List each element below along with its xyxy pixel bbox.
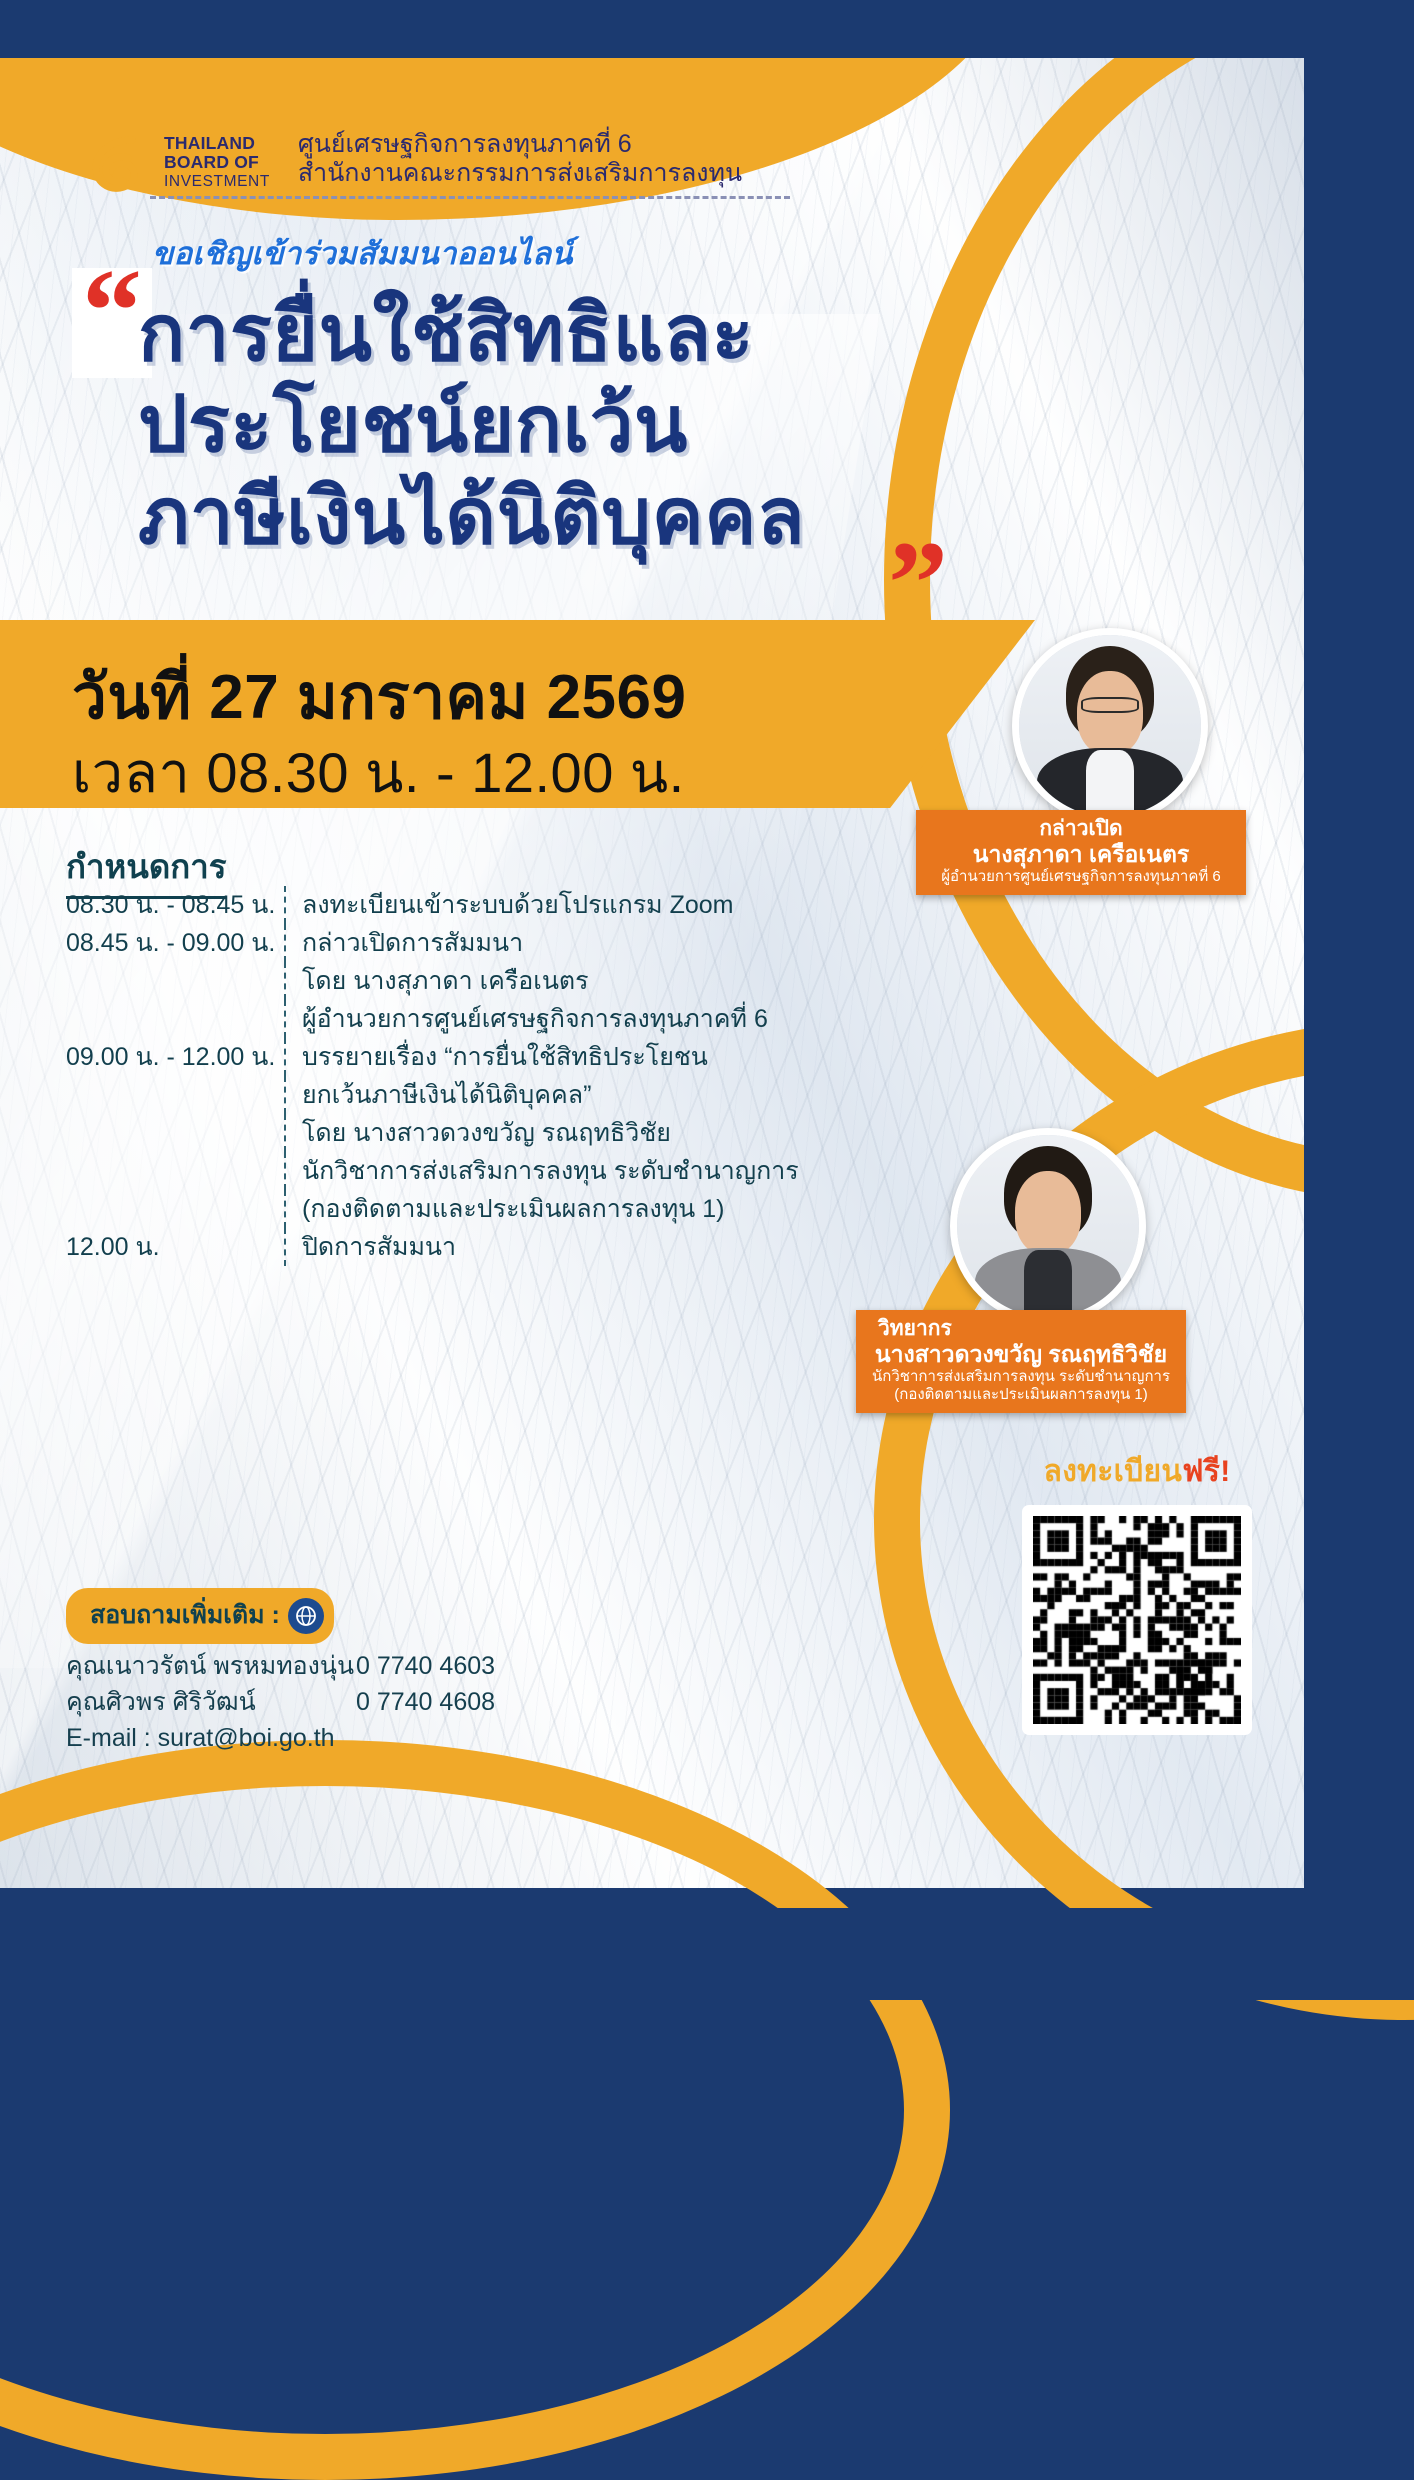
agenda-row: (กองติดตามและประเมินผลการลงทุน 1)	[66, 1190, 786, 1228]
agency-name: ศูนย์เศรษฐกิจการลงทุนภาคที่ 6 สำนักงานคณ…	[298, 130, 742, 188]
title-line-1: การยื่นใช้สิทธิและ	[138, 288, 805, 379]
speaker-name-2: นางสาวดวงขวัญ รณฤทธิวิชัย	[872, 1341, 1170, 1368]
boi-swirl-logo-icon	[88, 132, 150, 194]
boi-wordmark-line2: BOARD OF	[164, 153, 270, 172]
contact-phone: 0 7740 4608	[356, 1684, 495, 1720]
agenda-row-time: 12.00 น.	[66, 1228, 284, 1266]
agenda-row: 12.00 น.ปิดการสัมมนา	[66, 1228, 786, 1266]
agenda-row: โดย นางสาวดวงขวัญ รณฤทธิวิชัย	[66, 1114, 786, 1152]
agency-line-2: สำนักงานคณะกรรมการส่งเสริมการลงทุน	[298, 159, 742, 188]
agenda-divider	[284, 962, 286, 1000]
speaker-portrait-1	[1012, 628, 1208, 824]
brand-header: THAILAND BOARD OF INVESTMENT ศูนย์เศรษฐก…	[88, 128, 742, 194]
agenda-row-desc: ลงทะเบียนเข้าระบบด้วยโปรแกรม Zoom	[302, 886, 734, 924]
speaker-sub-2a: นักวิชาการส่งเสริมการลงทุน ระดับชำนาญการ	[872, 1368, 1170, 1386]
agenda-row-desc: (กองติดตามและประเมินผลการลงทุน 1)	[302, 1190, 724, 1228]
agenda-row-time: 08.45 น. - 09.00 น.	[66, 924, 284, 962]
speaker-card-lecturer: วิทยากร นางสาวดวงขวัญ รณฤทธิวิชัย นักวิช…	[950, 1128, 1186, 1413]
agenda-row-desc: โดย นางสาวดวงขวัญ รณฤทธิวิชัย	[302, 1114, 671, 1152]
contact-email[interactable]: E-mail : surat@boi.go.th	[66, 1720, 495, 1756]
agenda-row-desc: นักวิชาการส่งเสริมการลงทุน ระดับชำนาญการ	[302, 1152, 799, 1190]
speaker-name-1: นางสุภาดา เครือเนตร	[932, 841, 1230, 868]
agenda-row: 08.30 น. - 08.45 น.ลงทะเบียนเข้าระบบด้วย…	[66, 886, 786, 924]
agenda-divider	[284, 1190, 286, 1228]
contact-name: คุณเนาวรัตน์ พรหมทองนุ่น	[66, 1648, 356, 1684]
speaker-portrait-2	[950, 1128, 1146, 1324]
contact-pill: สอบถามเพิ่มเติม :	[66, 1588, 334, 1644]
agenda-row-desc: ปิดการสัมมนา	[302, 1228, 456, 1266]
agenda-row-desc: โดย นางสุภาดา เครือเนตร	[302, 962, 589, 1000]
globe-icon[interactable]	[288, 1598, 324, 1634]
invitation-line: ขอเชิญเข้าร่วมสัมมนาออนไลน์	[152, 228, 573, 278]
speaker-label-1: กล่าวเปิด นางสุภาดา เครือเนตร ผู้อำนวยกา…	[916, 810, 1246, 895]
agenda-row-desc: บรรยายเรื่อง “การยื่นใช้สิทธิประโยชน	[302, 1038, 708, 1076]
agenda-row: โดย นางสุภาดา เครือเนตร	[66, 962, 786, 1000]
registration-qr-block[interactable]: ลงทะเบียนฟรี!	[1022, 1448, 1252, 1735]
qr-label-free: ฟรี!	[1182, 1455, 1230, 1488]
contact-row: คุณศิวพร ศิริวัฒน์0 7740 4608	[66, 1684, 495, 1720]
agenda-divider	[284, 1038, 286, 1076]
qr-label-main: ลงทะเบียน	[1044, 1455, 1183, 1488]
contact-name: คุณศิวพร ศิริวัฒน์	[66, 1684, 356, 1720]
speaker-card-opening: กล่าวเปิด นางสุภาดา เครือเนตร ผู้อำนวยกา…	[1012, 628, 1246, 895]
agenda-divider	[284, 924, 286, 962]
agenda-row-desc: ผู้อำนวยการศูนย์เศรษฐกิจการลงทุนภาคที่ 6	[302, 1000, 768, 1038]
title-line-2: ประโยชน์ยกเว้น	[138, 379, 805, 470]
agenda-row: ยกเว้นภาษีเงินได้นิติบุคคล”	[66, 1076, 786, 1114]
speaker-sub-1: ผู้อำนวยการศูนย์เศรษฐกิจการลงทุนภาคที่ 6	[932, 868, 1230, 886]
boi-wordmark: THAILAND BOARD OF INVESTMENT	[164, 134, 270, 190]
contact-list: คุณเนาวรัตน์ พรหมทองนุ่น0 7740 4603คุณศิ…	[66, 1648, 495, 1756]
quote-close-mark: ”	[880, 540, 956, 626]
agenda-divider	[284, 1000, 286, 1038]
header-divider	[150, 196, 790, 199]
qr-code[interactable]	[1022, 1505, 1252, 1735]
event-time: เวลา 08.30 น. - 12.00 น.	[72, 728, 685, 817]
agenda-row-desc: ยกเว้นภาษีเงินได้นิติบุคคล”	[302, 1076, 591, 1114]
agenda-list: 08.30 น. - 08.45 น.ลงทะเบียนเข้าระบบด้วย…	[66, 886, 786, 1266]
agenda-divider	[284, 886, 286, 924]
agenda-row: ผู้อำนวยการศูนย์เศรษฐกิจการลงทุนภาคที่ 6	[66, 1000, 786, 1038]
agency-line-1: ศูนย์เศรษฐกิจการลงทุนภาคที่ 6	[298, 130, 742, 159]
agenda-row: 08.45 น. - 09.00 น.กล่าวเปิดการสัมมนา	[66, 924, 786, 962]
contact-phone: 0 7740 4603	[356, 1648, 495, 1684]
boi-wordmark-line1: THAILAND	[164, 134, 270, 153]
poster-root: THAILAND BOARD OF INVESTMENT ศูนย์เศรษฐก…	[0, 0, 1414, 2000]
agenda-divider	[284, 1114, 286, 1152]
agenda-row: 09.00 น. - 12.00 น.บรรยายเรื่อง “การยื่น…	[66, 1038, 786, 1076]
boi-wordmark-line3: INVESTMENT	[164, 173, 270, 190]
agenda-divider	[284, 1152, 286, 1190]
frame-top	[0, 0, 1414, 58]
speaker-sub-2b: (กองติดตามและประเมินผลการลงทุน 1)	[872, 1386, 1170, 1404]
page-title: การยื่นใช้สิทธิและ ประโยชน์ยกเว้น ภาษีเง…	[138, 288, 805, 562]
agenda-row-desc: กล่าวเปิดการสัมมนา	[302, 924, 523, 962]
speaker-role-1: กล่าวเปิด	[932, 817, 1230, 841]
agenda-divider	[284, 1076, 286, 1114]
agenda-row-time: 08.30 น. - 08.45 น.	[66, 886, 284, 924]
contact-row: คุณเนาวรัตน์ พรหมทองนุ่น0 7740 4603	[66, 1648, 495, 1684]
speaker-label-2: วิทยากร นางสาวดวงขวัญ รณฤทธิวิชัย นักวิช…	[856, 1310, 1186, 1413]
agenda-row: นักวิชาการส่งเสริมการลงทุน ระดับชำนาญการ	[66, 1152, 786, 1190]
qr-title: ลงทะเบียนฟรี!	[1022, 1448, 1252, 1495]
frame-bottom	[0, 1908, 1414, 2000]
agenda-divider	[284, 1228, 286, 1266]
title-line-3: ภาษีเงินได้นิติบุคคล	[138, 471, 805, 562]
agenda-row-time: 09.00 น. - 12.00 น.	[66, 1038, 284, 1076]
contact-pill-label: สอบถามเพิ่มเติม :	[90, 1595, 280, 1635]
speaker-role-2: วิทยากร	[872, 1317, 1170, 1341]
frame-right	[1304, 0, 1414, 2000]
